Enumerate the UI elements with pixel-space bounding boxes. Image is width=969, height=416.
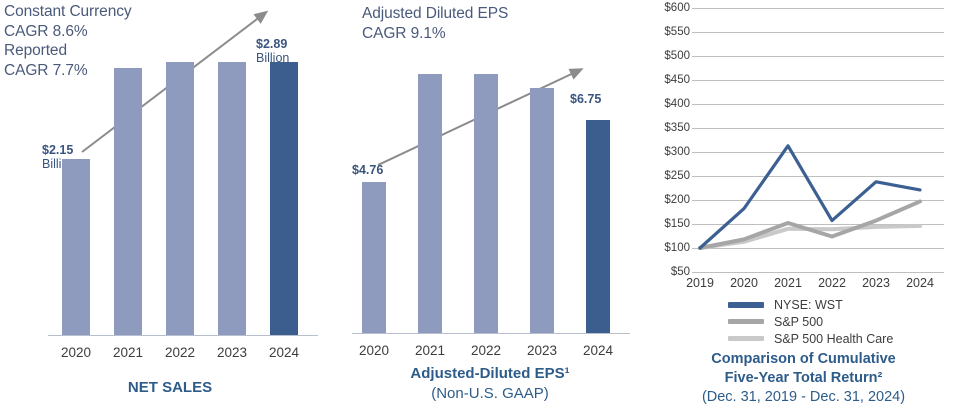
legend-swatch-wst [728,302,764,308]
eps-bar-2022 [474,74,498,333]
bar-2023 [218,62,246,335]
line-xtick-2019: 2019 [686,276,714,290]
legend-swatch-sp500-health-care [728,336,764,341]
net-sales-bars [0,58,340,336]
eps-caption: Adjusted-Diluted EPS¹ (Non-U.S. GAAP) [340,364,640,404]
ytick-250: $250 [664,170,690,182]
eps-xtick-2023: 2023 [518,343,566,358]
eps-xtick-2022: 2022 [462,343,510,358]
total-return-plot [692,4,944,272]
total-return-caption-line3: (Dec. 31, 2019 - Dec. 31, 2024) [640,388,967,407]
eps-bar-2023 [530,88,554,333]
legend-item-sp500: S&P 500 [728,313,968,330]
total-return-caption: Comparison of Cumulative Five-Year Total… [640,350,967,407]
bar-2021 [114,68,142,335]
ytick-400: $400 [664,98,690,110]
bar-2024 [270,62,298,335]
eps-bars [340,58,640,334]
total-return-y-axis: $600 $550 $500 $450 $400 $350 $300 $250 … [640,0,690,276]
legend-label-wst: NYSE: WST [774,298,843,312]
legend-item-wst: NYSE: WST [728,296,968,313]
xtick-2024: 2024 [260,345,308,360]
eps-bar-2021 [418,74,442,333]
xtick-2020: 2020 [52,345,100,360]
total-return-x-axis: 2019 2020 2021 2022 2023 2024 [692,276,944,294]
eps-caption-text: Adjusted-Diluted EPS¹ [410,365,569,382]
eps-axis [352,333,630,335]
eps-chart: Adjusted Diluted EPS CAGR 9.1% $4.76 $6.… [340,0,640,416]
line-xtick-2023: 2023 [862,276,890,290]
bar-2020 [62,159,90,335]
xtick-2022: 2022 [156,345,204,360]
net-sales-caption: NET SALES [0,378,340,398]
net-sales-axis [48,335,318,337]
line-xtick-2024: 2024 [906,276,934,290]
net-sales-last-value: $2.89 [256,37,287,51]
ytick-150: $150 [664,218,690,230]
eps-xtick-2020: 2020 [350,343,398,358]
ytick-450: $450 [664,74,690,86]
total-return-series [692,4,944,276]
eps-bar-2024 [586,120,610,333]
net-sales-chart: Constant Currency CAGR 8.6% Reported CAG… [0,0,340,416]
eps-caption-sub: (Non-U.S. GAAP) [340,384,640,404]
ytick-550: $550 [664,26,690,38]
ytick-200: $200 [664,194,690,206]
ytick-100: $100 [664,242,690,254]
total-return-caption-line1: Comparison of Cumulative [711,351,896,367]
ytick-600: $600 [664,2,690,14]
eps-xtick-2024: 2024 [574,343,622,358]
xtick-2023: 2023 [208,345,256,360]
ytick-300: $300 [664,146,690,158]
ytick-500: $500 [664,50,690,62]
line-xtick-2020: 2020 [730,276,758,290]
total-return-caption-line2: Five-Year Total Return² [725,370,883,386]
legend-label-sp500: S&P 500 [774,315,823,329]
bar-2022 [166,62,194,335]
line-xtick-2021: 2021 [774,276,802,290]
eps-bar-2020 [362,182,386,333]
line-xtick-2022: 2022 [818,276,846,290]
legend-label-sp500-health-care: S&P 500 Health Care [774,332,893,346]
xtick-2021: 2021 [104,345,152,360]
net-sales-caption-text: NET SALES [128,379,212,396]
eps-xtick-2021: 2021 [406,343,454,358]
total-return-chart: $600 $550 $500 $450 $400 $350 $300 $250 … [640,0,969,416]
legend-swatch-sp500 [728,319,764,324]
net-sales-xticks: 2020 2021 2022 2023 2024 [0,340,340,360]
ytick-350: $350 [664,122,690,134]
legend-item-sp500-health-care: S&P 500 Health Care [728,330,968,347]
total-return-legend: NYSE: WST S&P 500 S&P 500 Health Care [728,296,968,347]
eps-xticks: 2020 2021 2022 2023 2024 [340,338,640,358]
